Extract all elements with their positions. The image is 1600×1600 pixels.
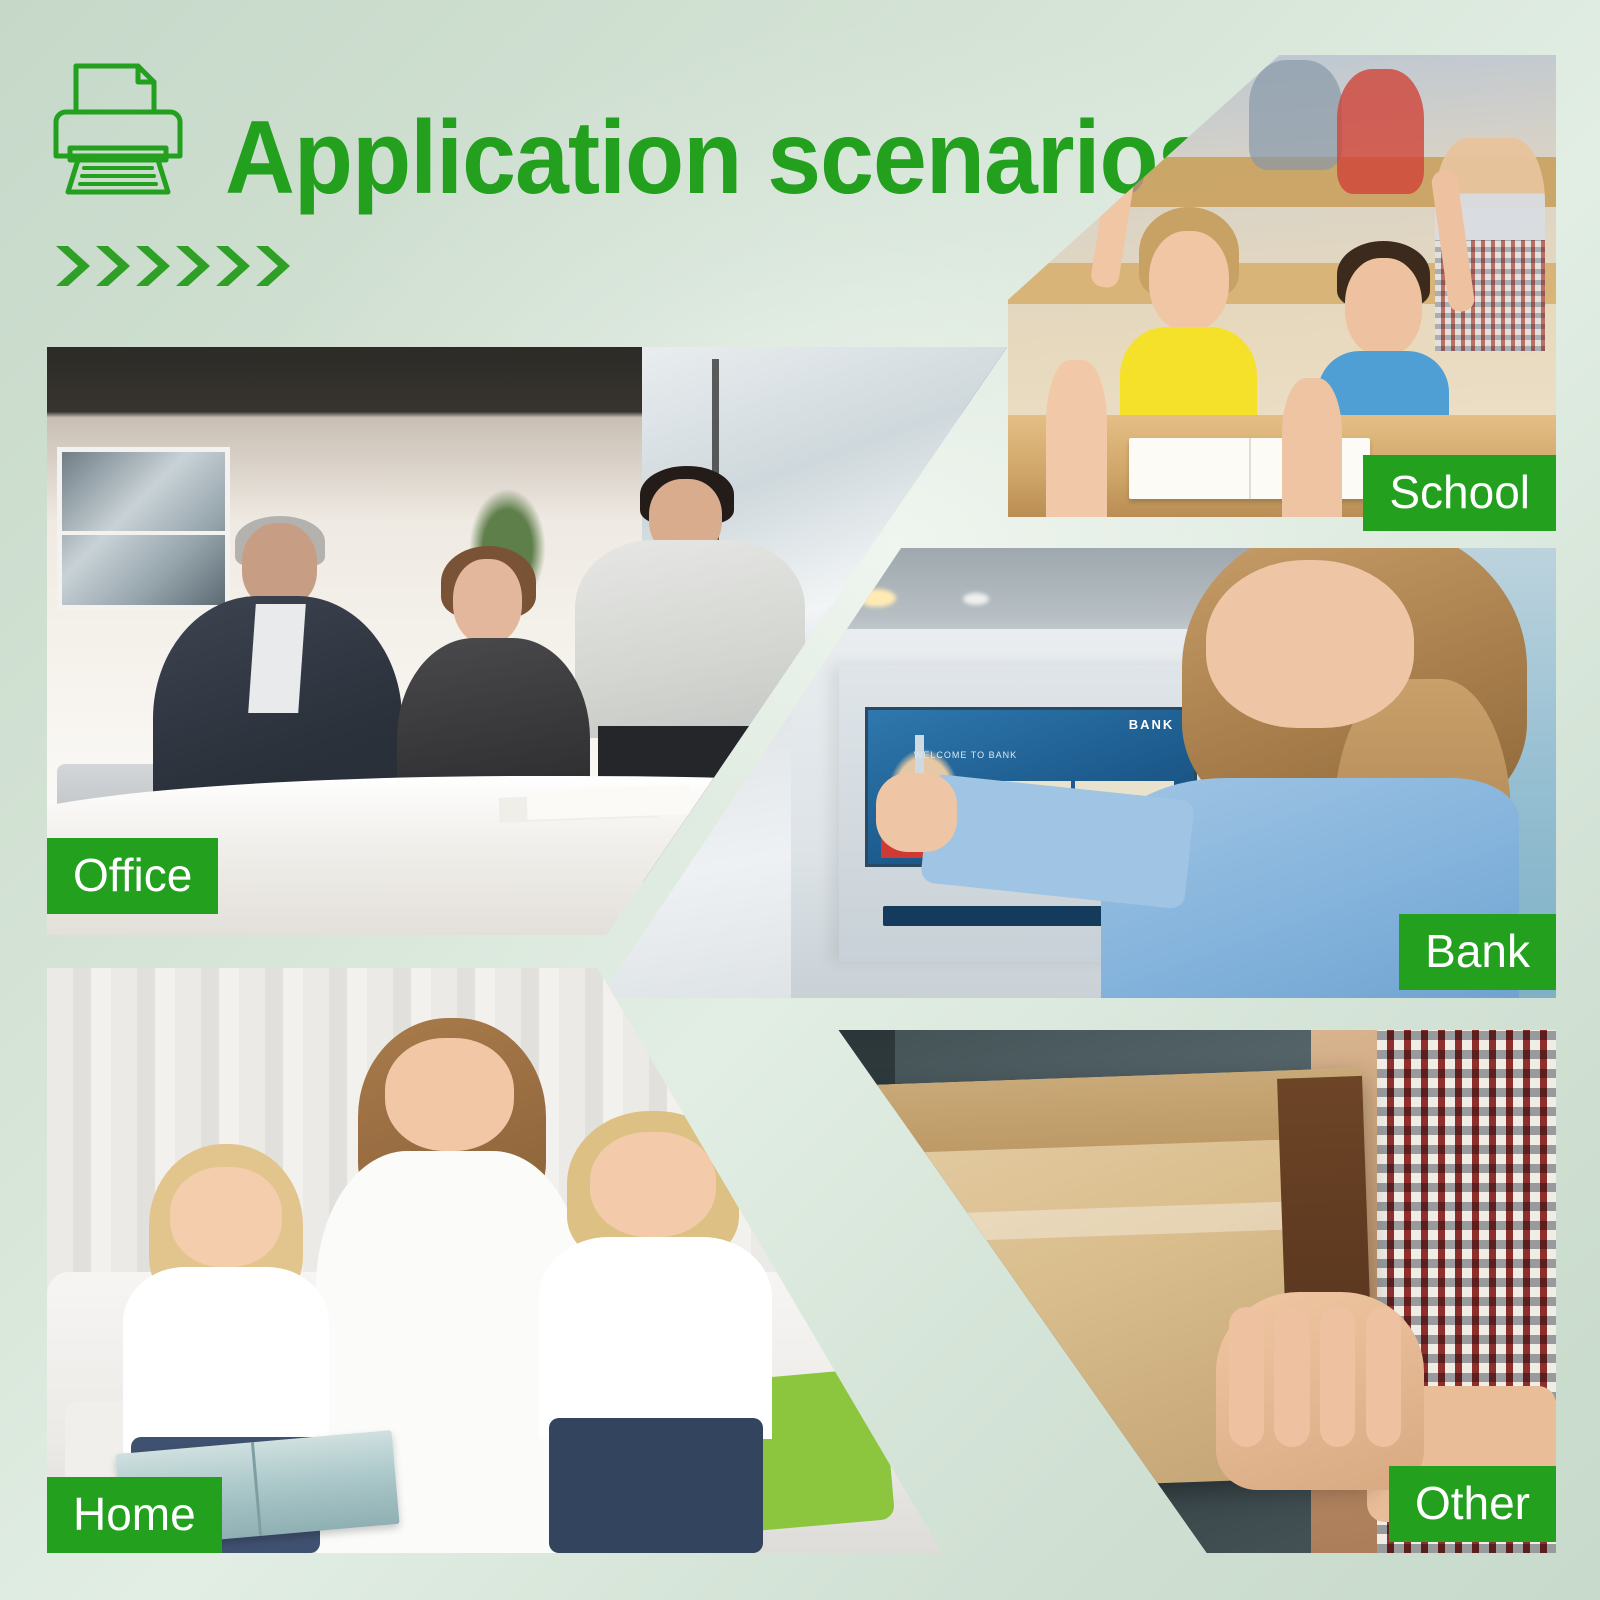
atm-welcome-text: WELCOME TO BANK <box>914 750 1017 760</box>
scene-label-office: Office <box>47 838 218 914</box>
scene-photo-home <box>47 968 942 1553</box>
atm-brand-text: BANK <box>1129 717 1175 732</box>
scene-label-other: Other <box>1389 1466 1556 1542</box>
page-title: Application scenarios <box>225 106 1211 210</box>
chevron-arrow-row <box>52 238 352 298</box>
scene-label-home: Home <box>47 1477 222 1553</box>
scene-label-school: School <box>1363 455 1556 531</box>
application-scenarios-banner: Application scenarios <box>0 0 1600 1600</box>
printer-icon <box>52 56 184 196</box>
scene-label-bank: Bank <box>1399 914 1556 990</box>
header: Application scenarios <box>47 46 1207 256</box>
